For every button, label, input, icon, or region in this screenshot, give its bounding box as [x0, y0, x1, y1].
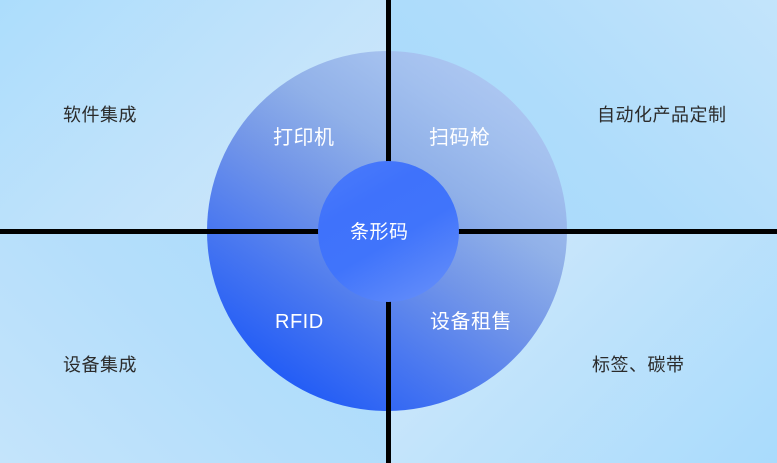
- diagram-canvas: 打印机 扫码枪 RFID 设备租售 条形码 软件集成 自动化产品定制 设备集成 …: [0, 0, 777, 463]
- quadrant-label-automation-customize[interactable]: 自动化产品定制: [597, 106, 727, 124]
- ring-label-scanner[interactable]: 扫码枪: [429, 128, 491, 148]
- quadrant-label-labels-ribbons[interactable]: 标签、碳带: [592, 356, 685, 374]
- ring-label-rental[interactable]: 设备租售: [430, 312, 512, 332]
- divider-vertical-top: [386, 0, 391, 162]
- quadrant-label-software-integration[interactable]: 软件集成: [63, 106, 137, 124]
- divider-vertical-bottom: [386, 301, 391, 463]
- divider-horizontal-right: [458, 229, 777, 234]
- divider-horizontal-left: [0, 229, 319, 234]
- ring-label-printer[interactable]: 打印机: [273, 128, 335, 148]
- quadrant-label-device-integration[interactable]: 设备集成: [63, 356, 137, 374]
- ring-label-rfid[interactable]: RFID: [275, 312, 324, 332]
- center-circle-label: 条形码: [350, 223, 409, 242]
